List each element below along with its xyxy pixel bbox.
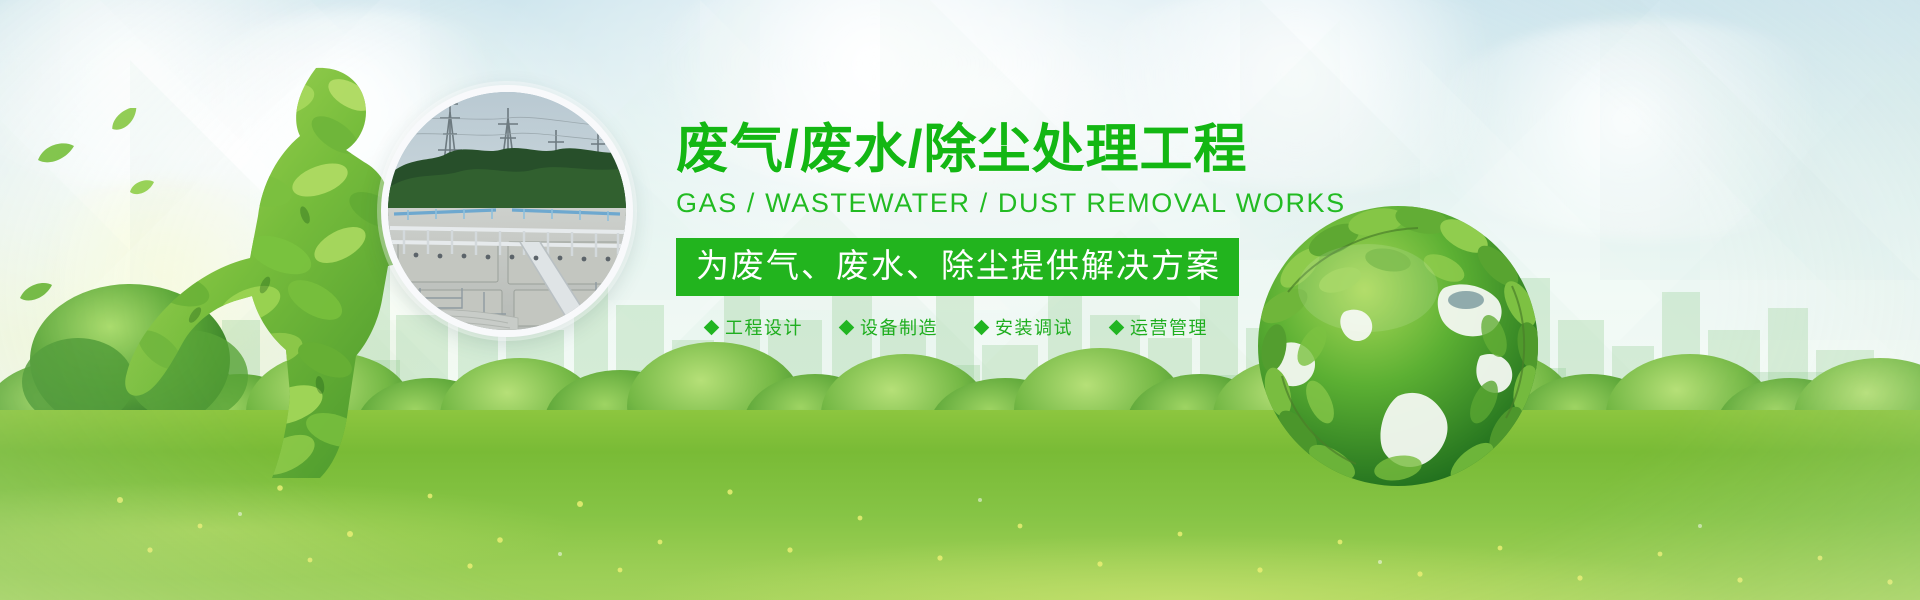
feature-label: 设备制造	[860, 314, 938, 340]
diamond-bullet-icon	[839, 319, 855, 335]
eco-engineering-banner: 废气/废水/除尘处理工程 GAS / WASTEWATER / DUST REM…	[0, 0, 1920, 600]
leaf-globe	[1248, 196, 1548, 496]
photo-illustration	[388, 92, 626, 330]
diamond-bullet-icon	[1109, 319, 1125, 335]
feature-item-installation[interactable]: 安装调试	[976, 314, 1073, 340]
tagline-text: 为废气、废水、除尘提供解决方案	[696, 247, 1221, 284]
feature-item-design[interactable]: 工程设计	[706, 314, 803, 340]
floating-leaf-icon	[108, 108, 142, 137]
floating-leaf-icon	[18, 280, 54, 309]
feature-item-manufacturing[interactable]: 设备制造	[841, 314, 938, 340]
page-title: 废气/废水/除尘处理工程	[676, 122, 1466, 178]
feature-label: 工程设计	[725, 314, 803, 340]
floating-leaf-icon	[128, 178, 156, 203]
wastewater-plant-photo	[381, 85, 633, 337]
diamond-bullet-icon	[704, 319, 720, 335]
feature-label: 运营管理	[1130, 314, 1208, 340]
feature-label: 安装调试	[995, 314, 1073, 340]
feature-item-operation[interactable]: 运营管理	[1111, 314, 1208, 340]
floating-leaf-icon	[36, 140, 76, 171]
tagline-bar: 为废气、废水、除尘提供解决方案	[676, 238, 1239, 296]
diamond-bullet-icon	[974, 319, 990, 335]
